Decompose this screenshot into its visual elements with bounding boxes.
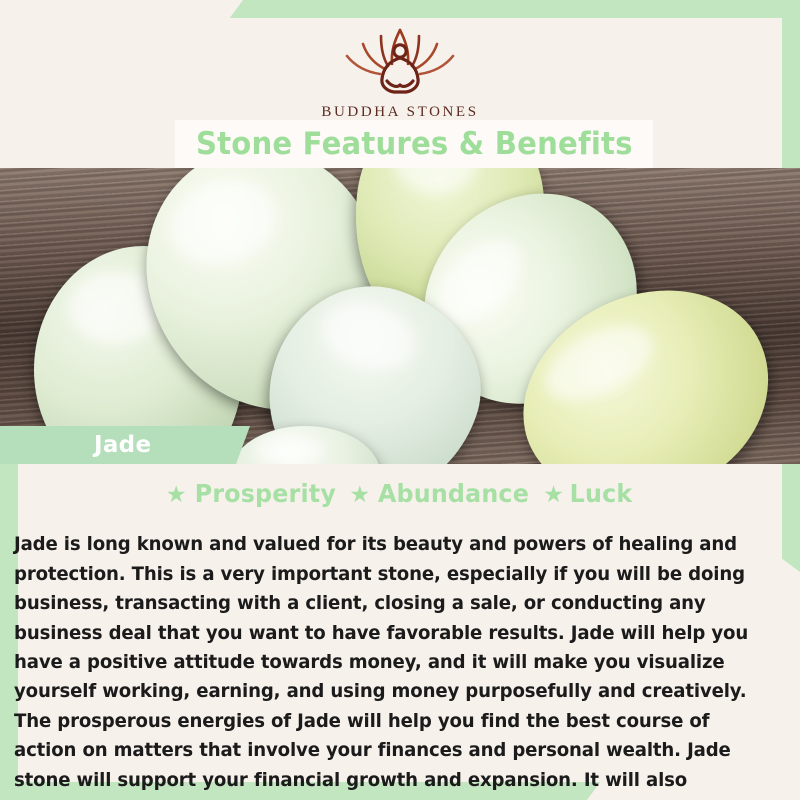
stone-description: Jade is long known and valued for its be… (14, 530, 774, 800)
stone-benefits-infographic: BUDDHA STONES Stone Features & Benefits … (0, 0, 800, 800)
star-icon-2: ★ (349, 482, 370, 508)
keyword-prosperity: Prosperity (194, 479, 335, 508)
brand-name: BUDDHA STONES (0, 104, 800, 121)
keyword-luck: Luck (570, 479, 633, 508)
brand-header: BUDDHA STONES (0, 22, 800, 121)
page-title: Stone Features & Benefits (196, 126, 633, 162)
stone-name-label: Jade (94, 432, 151, 458)
star-icon-3: ★ (543, 482, 564, 508)
keyword-abundance: Abundance (378, 479, 529, 508)
stone-photo (0, 168, 800, 464)
stone-name-badge: Jade (0, 426, 250, 464)
star-icon-1: ★ (166, 482, 187, 508)
keyword-row: ★Prosperity★Abundance★Luck (0, 479, 800, 508)
lotus-meditation-icon (325, 22, 475, 102)
page-title-banner: Stone Features & Benefits (175, 120, 653, 168)
